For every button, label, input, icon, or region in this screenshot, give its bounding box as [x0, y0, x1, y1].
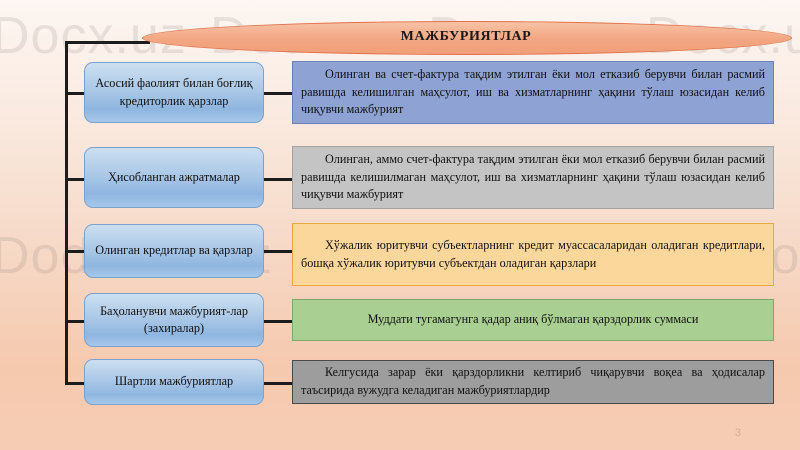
connector-title-stub	[65, 41, 150, 44]
description-box-row-4[interactable]: Муддати тугамагунга қадар аниқ бўлмаган …	[292, 299, 774, 341]
description-box-row-3[interactable]: Хўжалик юритувчи субъектларнинг кредит м…	[292, 223, 774, 286]
description-text-row-1: Олинган ва счет-фактура тақдим этилган ё…	[301, 66, 765, 120]
category-box-row-5[interactable]: Шартли мажбуриятлар	[84, 359, 264, 405]
page-title: МАЖБУРИЯТЛАР	[142, 21, 790, 53]
category-label-row-5: Шартли мажбуриятлар	[115, 373, 233, 390]
category-label-row-2: Ҳисобланган ажратмалар	[108, 169, 240, 186]
description-text-row-5: Келгусида зарар ёки қарздорликни келтири…	[301, 364, 765, 400]
category-label-row-1: Асосий фаолият билан боғлиқ кредиторлик …	[93, 75, 255, 110]
description-text-row-4: Муддати тугамагунга қадар аниқ бўлмаган …	[301, 311, 765, 329]
category-label-row-3: Олинган кредитлар ва қарзлар	[95, 242, 253, 259]
category-box-row-4[interactable]: Баҳоланувчи мажбурият-лар (захиралар)	[84, 293, 264, 347]
description-box-row-5[interactable]: Келгусида зарар ёки қарздорликни келтири…	[292, 360, 774, 404]
description-box-row-2[interactable]: Олинган, аммо счет-фактура тақдим этилга…	[292, 146, 774, 209]
category-box-row-2[interactable]: Ҳисобланган ажратмалар	[84, 147, 264, 208]
description-box-row-1[interactable]: Олинган ва счет-фактура тақдим этилган ё…	[292, 61, 774, 124]
connector-bridge-row-1	[262, 92, 294, 95]
connector-bridge-row-3	[262, 250, 294, 253]
slide-canvas: Docx.uz Docx.uz Docx.uz Docx.uz Docx.uz …	[0, 0, 800, 450]
connector-bridge-row-4	[262, 320, 294, 323]
category-box-row-1[interactable]: Асосий фаолият билан боғлиқ кредиторлик …	[84, 62, 264, 123]
connector-bridge-row-2	[262, 178, 294, 181]
page-number: 3	[735, 427, 741, 439]
description-text-row-3: Хўжалик юритувчи субъектларнинг кредит м…	[301, 237, 765, 273]
description-text-row-2: Олинган, аммо счет-фактура тақдим этилга…	[301, 151, 765, 205]
category-box-row-3[interactable]: Олинган кредитлар ва қарзлар	[84, 224, 264, 278]
category-label-row-4: Баҳоланувчи мажбурият-лар (захиралар)	[93, 303, 255, 338]
connector-bridge-row-5	[262, 382, 294, 385]
